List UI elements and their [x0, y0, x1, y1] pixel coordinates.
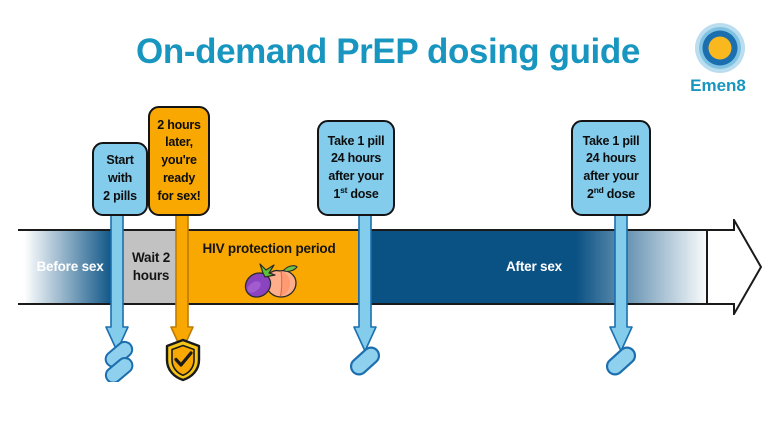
- concentric-circles-logo-icon: [694, 22, 746, 74]
- timeline-segment-hiv-protection-period: HIV protection period: [180, 229, 358, 305]
- connector-arrow-2: [170, 205, 194, 355]
- brand-logo: Emen8: [676, 22, 760, 104]
- callout-text: Take 1 pill 24 hours after your 1st dose: [328, 133, 385, 204]
- timeline-segment-after-sex: After sex: [358, 229, 710, 305]
- segment-label: After sex: [506, 258, 562, 276]
- timeline-arrow-head-icon: [706, 219, 762, 315]
- page-title: On-demand PrEP dosing guide: [108, 28, 668, 76]
- segment-label: Before sex: [36, 258, 103, 276]
- callout-take-1-pill-after-1st-dose[interactable]: Take 1 pill 24 hours after your 1st dose: [317, 120, 395, 216]
- prep-dosing-infographic: On-demand PrEP dosing guide Emen8 Before…: [0, 0, 768, 421]
- shield-check-icon: [164, 338, 202, 382]
- two-pills-icon: [100, 340, 144, 382]
- callout-take-1-pill-after-2nd-dose[interactable]: Take 1 pill 24 hours after your 2nd dose: [571, 120, 651, 216]
- one-pill-icon: [348, 340, 382, 382]
- eggplant-peach-emoji-icon: [232, 259, 306, 299]
- callout-start-with-2-pills[interactable]: Start with 2 pills: [92, 142, 148, 216]
- callout-text: Take 1 pill 24 hours after your 2nd dose: [583, 133, 640, 204]
- one-pill-icon: [604, 340, 638, 382]
- segment-label: HIV protection period: [202, 240, 335, 258]
- connector-arrow-3: [353, 205, 377, 355]
- callout-text: Start with 2 pills: [103, 152, 137, 205]
- connector-arrow-1: [105, 205, 129, 355]
- connector-arrow-4: [609, 205, 633, 355]
- callout-two-hours-later-ready[interactable]: 2 hours later, you're ready for sex!: [148, 106, 210, 216]
- brand-name: Emen8: [676, 76, 760, 96]
- callout-text: 2 hours later, you're ready for sex!: [157, 117, 200, 206]
